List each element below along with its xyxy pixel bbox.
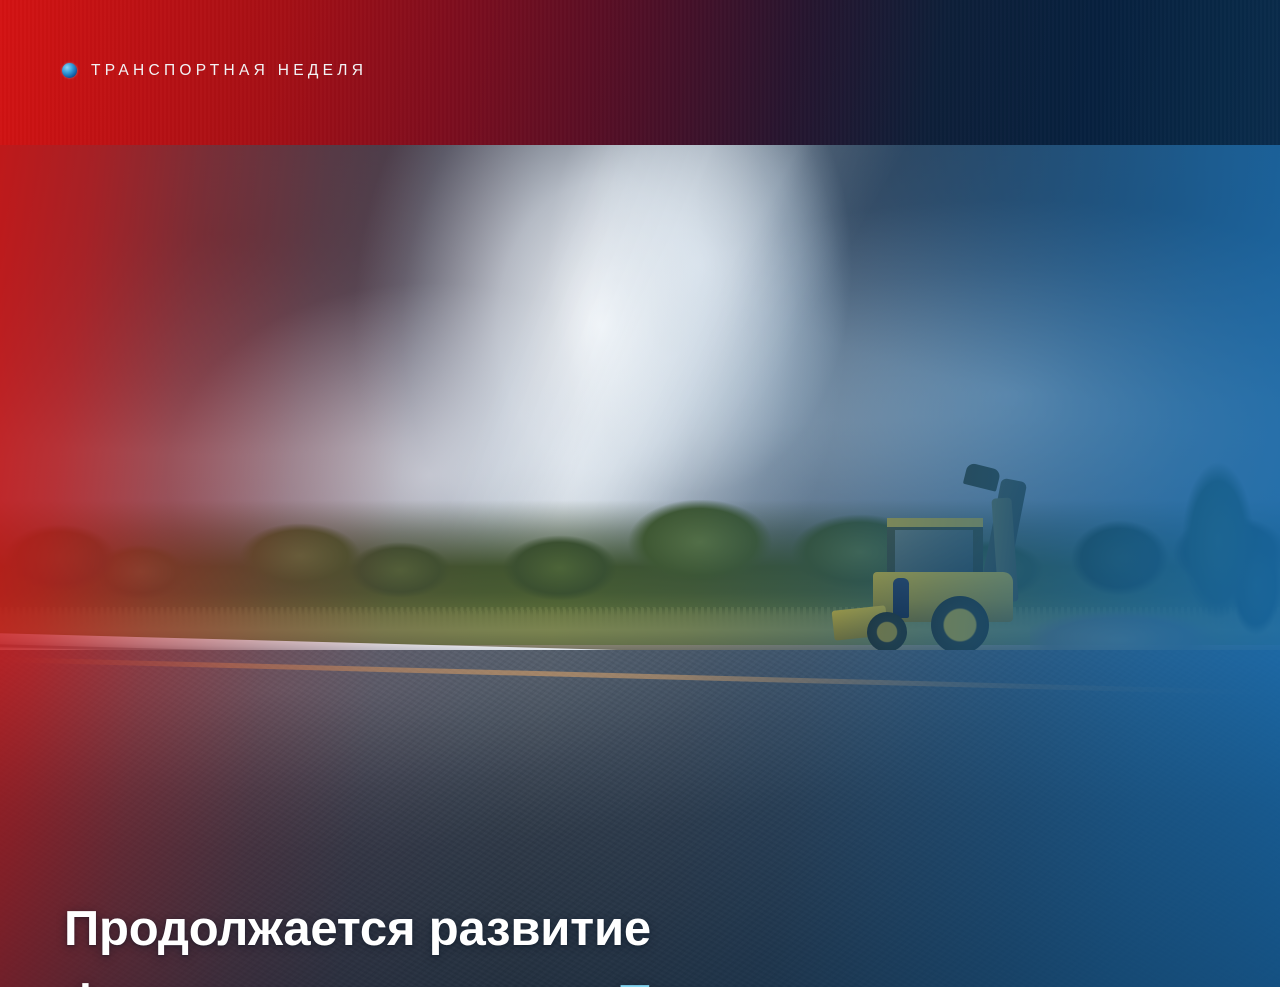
headline-line-2: федеральных дорог в Пермском: [64, 966, 1144, 987]
hero-photo: Продолжается развитие федеральных дорог …: [0, 145, 1280, 987]
headline-region-perm: Пермском: [617, 976, 859, 987]
headline-text-2a: федеральных дорог в: [64, 976, 617, 987]
headline-text-1: Продолжается развитие: [64, 902, 651, 956]
brand-header-bar: ТРАНСПОРТНАЯ НЕДЕЛЯ: [0, 0, 1280, 145]
social-post-card: ТРАНСПОРТНАЯ НЕДЕЛЯ: [0, 0, 1280, 987]
headline-line-1: Продолжается развитие: [64, 892, 1144, 966]
brand-title: ТРАНСПОРТНАЯ НЕДЕЛЯ: [91, 63, 367, 79]
headline: Продолжается развитие федеральных дорог …: [64, 892, 1144, 987]
brand-lockup[interactable]: ТРАНСПОРТНАЯ НЕДЕЛЯ: [62, 63, 367, 79]
blue-sphere-icon: [62, 63, 77, 78]
